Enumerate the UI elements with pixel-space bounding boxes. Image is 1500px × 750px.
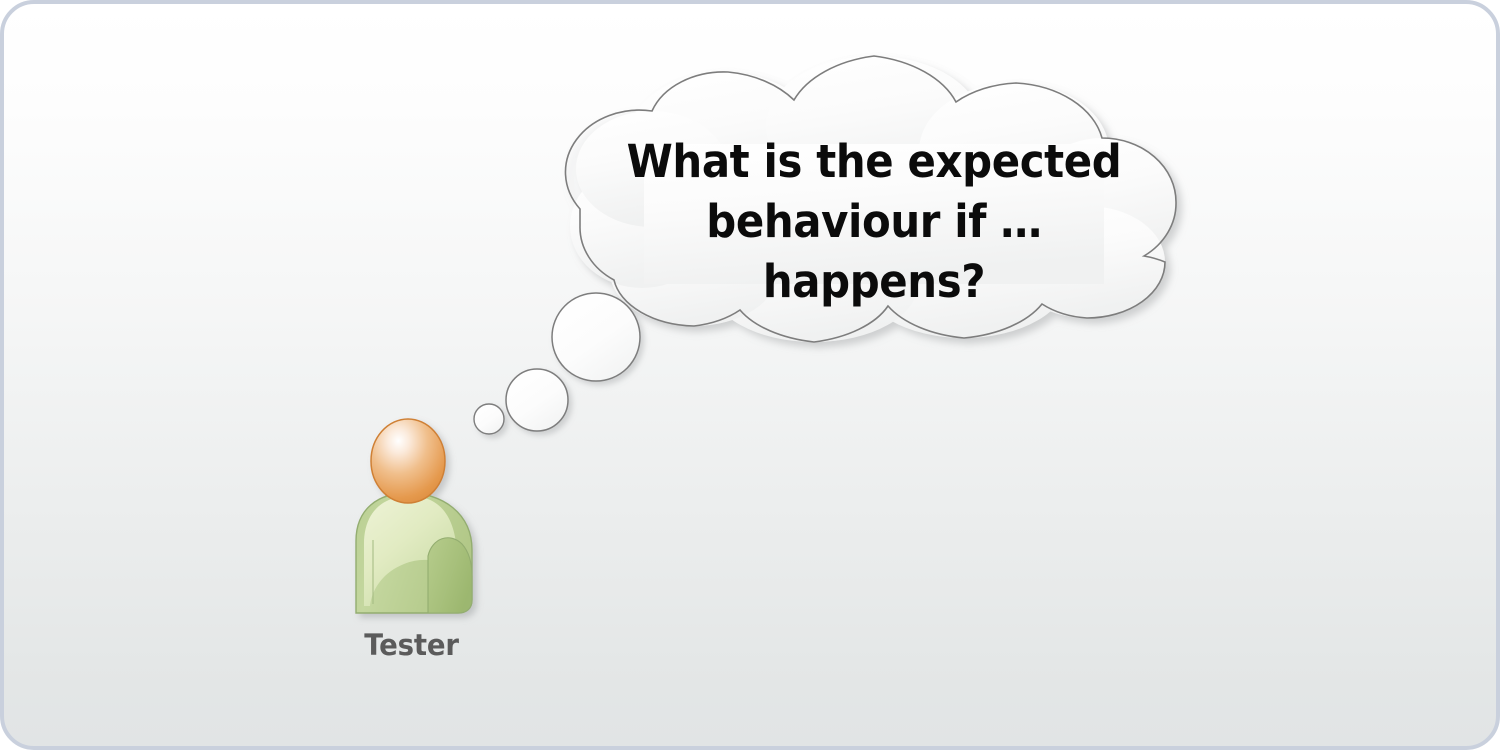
thought-bubble-graphic: [4, 4, 1496, 746]
medium-trail-circle: [506, 369, 568, 431]
slide-card: What is the expected behaviour if … happ…: [0, 0, 1500, 750]
person-head: [371, 419, 445, 503]
small-trail-circle: [474, 404, 504, 434]
thought-bubble-text: What is the expected behaviour if … happ…: [615, 132, 1132, 312]
actor-label-tester: Tester: [309, 628, 513, 662]
person-right-arm: [428, 538, 472, 613]
slide-stage: What is the expected behaviour if … happ…: [4, 4, 1496, 746]
